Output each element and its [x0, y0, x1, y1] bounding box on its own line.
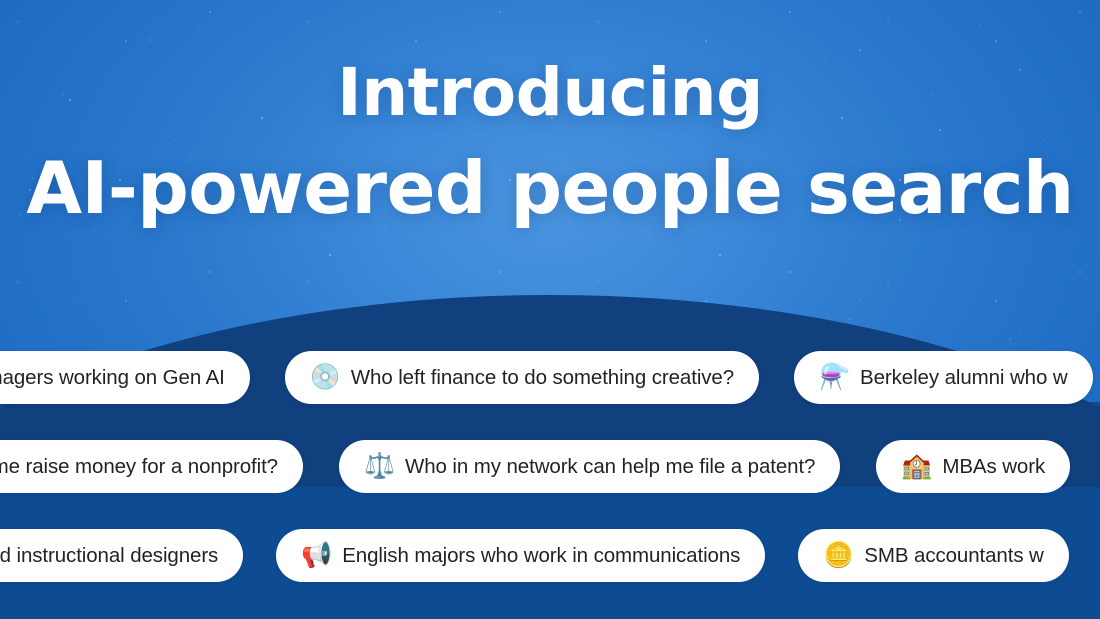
flask-sprout-icon: ⚗️	[819, 365, 847, 390]
suggestion-pill[interactable]: 📢 English majors who work in communicati…	[276, 529, 765, 582]
suggestion-pill[interactable]: ⚗️ Berkeley alumni who w	[794, 351, 1093, 404]
headline-line-1: Introducing	[0, 60, 1100, 126]
suggestion-pill[interactable]: 🏫 MBAs work	[876, 440, 1070, 493]
pill-label: Who left finance to do something creativ…	[351, 351, 734, 404]
suggestion-pill[interactable]: urned instructional designers	[0, 529, 243, 582]
suggestion-pill[interactable]: 💿 Who left finance to do something creat…	[285, 351, 759, 404]
pill-label: Managers working on Gen AI	[0, 351, 225, 404]
pill-label: Who in my network can help me file a pat…	[405, 440, 815, 493]
coins-icon: 🪙	[823, 543, 851, 568]
pill-label: MBAs work	[942, 440, 1045, 493]
pill-label: SMB accountants w	[864, 529, 1043, 582]
pill-label: Berkeley alumni who w	[860, 351, 1068, 404]
page-title: Introducing AI-powered people search	[0, 60, 1100, 224]
suggestion-pill[interactable]: 🪙 SMB accountants w	[798, 529, 1068, 582]
megaphone-icon: 📢	[301, 543, 329, 568]
pill-label: elp me raise money for a nonprofit?	[0, 440, 278, 493]
suggestion-row-1: Managers working on Gen AI 💿 Who left fi…	[0, 351, 1093, 404]
pill-label: English majors who work in communication…	[342, 529, 740, 582]
suggestion-row-2: elp me raise money for a nonprofit? ⚖️ W…	[0, 440, 1070, 493]
suggestion-pill[interactable]: elp me raise money for a nonprofit?	[0, 440, 303, 493]
navy-band-lower	[0, 578, 1100, 619]
optical-disc-icon: 💿	[310, 365, 338, 390]
suggestion-pill[interactable]: ⚖️ Who in my network can help me file a …	[339, 440, 840, 493]
suggestion-row-3: urned instructional designers 📢 English …	[0, 529, 1069, 582]
pill-label: urned instructional designers	[0, 529, 218, 582]
suggestion-pill[interactable]: Managers working on Gen AI	[0, 351, 250, 404]
university-building-icon: 🏫	[901, 454, 929, 479]
headline-line-2: AI-powered people search	[0, 152, 1100, 224]
promo-banner: Introducing AI-powered people search Man…	[0, 0, 1100, 619]
balance-scale-icon: ⚖️	[364, 454, 392, 479]
